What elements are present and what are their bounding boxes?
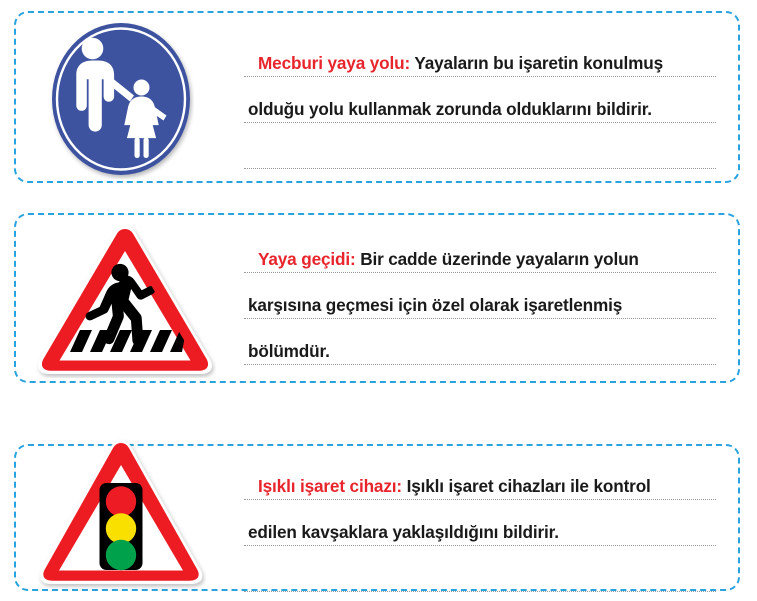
- mandatory-pedestrian-path-sign: [48, 19, 194, 179]
- line-text: Işıklı işaret cihazı: Işıklı işaret ciha…: [258, 478, 651, 495]
- writing-line: Işıklı işaret cihazı: Işıklı işaret ciha…: [244, 454, 716, 500]
- sign-cell: [16, 446, 244, 589]
- writing-lines: Mecburi yaya yolu: Yayaların bu işaretin…: [244, 31, 716, 169]
- text-cell: Işıklı işaret cihazı: Işıklı işaret ciha…: [244, 446, 738, 589]
- definition-text: olduğu yolu kullanmak zorunda oldukların…: [248, 99, 652, 119]
- definition-text: bölümdür.: [248, 341, 330, 361]
- pedestrian-crossing-warning-sign: [34, 220, 216, 378]
- definition-text: karşısına geçmesi için özel olarak işare…: [248, 295, 622, 315]
- sign-card: Yaya geçidi: Bir cadde üzerinde yayaları…: [14, 213, 740, 383]
- line-text: Yaya geçidi: Bir cadde üzerinde yayaları…: [258, 251, 639, 268]
- line-text: Mecburi yaya yolu: Yayaların bu işaretin…: [258, 55, 663, 72]
- text-cell: Mecburi yaya yolu: Yayaların bu işaretin…: [244, 13, 738, 181]
- sign-card: Mecburi yaya yolu: Yayaların bu işaretin…: [14, 11, 740, 183]
- writing-line: bölümdür.: [244, 319, 716, 365]
- term-label: Mecburi yaya yolu:: [258, 53, 410, 73]
- writing-line: karşısına geçmesi için özel olarak işare…: [244, 273, 716, 319]
- line-text: olduğu yolu kullanmak zorunda oldukların…: [248, 101, 652, 118]
- sign-cell: [16, 13, 244, 181]
- definition-text: Yayaların bu işaretin konulmuş: [410, 53, 663, 73]
- sign-card: Işıklı işaret cihazı: Işıklı işaret ciha…: [14, 444, 740, 591]
- worksheet-page: Mecburi yaya yolu: Yayaların bu işaretin…: [0, 0, 757, 601]
- traffic-signal-ahead-warning-sign: [36, 432, 206, 594]
- term-label: Işıklı işaret cihazı:: [258, 476, 402, 496]
- writing-line: Yaya geçidi: Bir cadde üzerinde yayaları…: [244, 227, 716, 273]
- line-text: edilen kavşaklara yaklaşıldığını bildiri…: [248, 524, 559, 541]
- writing-line: edilen kavşaklara yaklaşıldığını bildiri…: [244, 500, 716, 546]
- definition-text: edilen kavşaklara yaklaşıldığını bildiri…: [248, 522, 559, 542]
- writing-lines: Yaya geçidi: Bir cadde üzerinde yayaları…: [244, 227, 716, 365]
- writing-line-empty: [244, 123, 716, 169]
- writing-lines: Işıklı işaret cihazı: Işıklı işaret ciha…: [244, 454, 716, 592]
- sign-cell: [16, 215, 244, 381]
- definition-text: Bir cadde üzerinde yayaların yolun: [356, 249, 639, 269]
- writing-line: Mecburi yaya yolu: Yayaların bu işaretin…: [244, 31, 716, 77]
- definition-text: Işıklı işaret cihazları ile kontrol: [402, 476, 651, 496]
- writing-line-empty: [244, 546, 716, 592]
- line-text: bölümdür.: [248, 343, 330, 360]
- text-cell: Yaya geçidi: Bir cadde üzerinde yayaları…: [244, 215, 738, 381]
- term-label: Yaya geçidi:: [258, 249, 356, 269]
- line-text: karşısına geçmesi için özel olarak işare…: [248, 297, 622, 314]
- writing-line: olduğu yolu kullanmak zorunda oldukların…: [244, 77, 716, 123]
